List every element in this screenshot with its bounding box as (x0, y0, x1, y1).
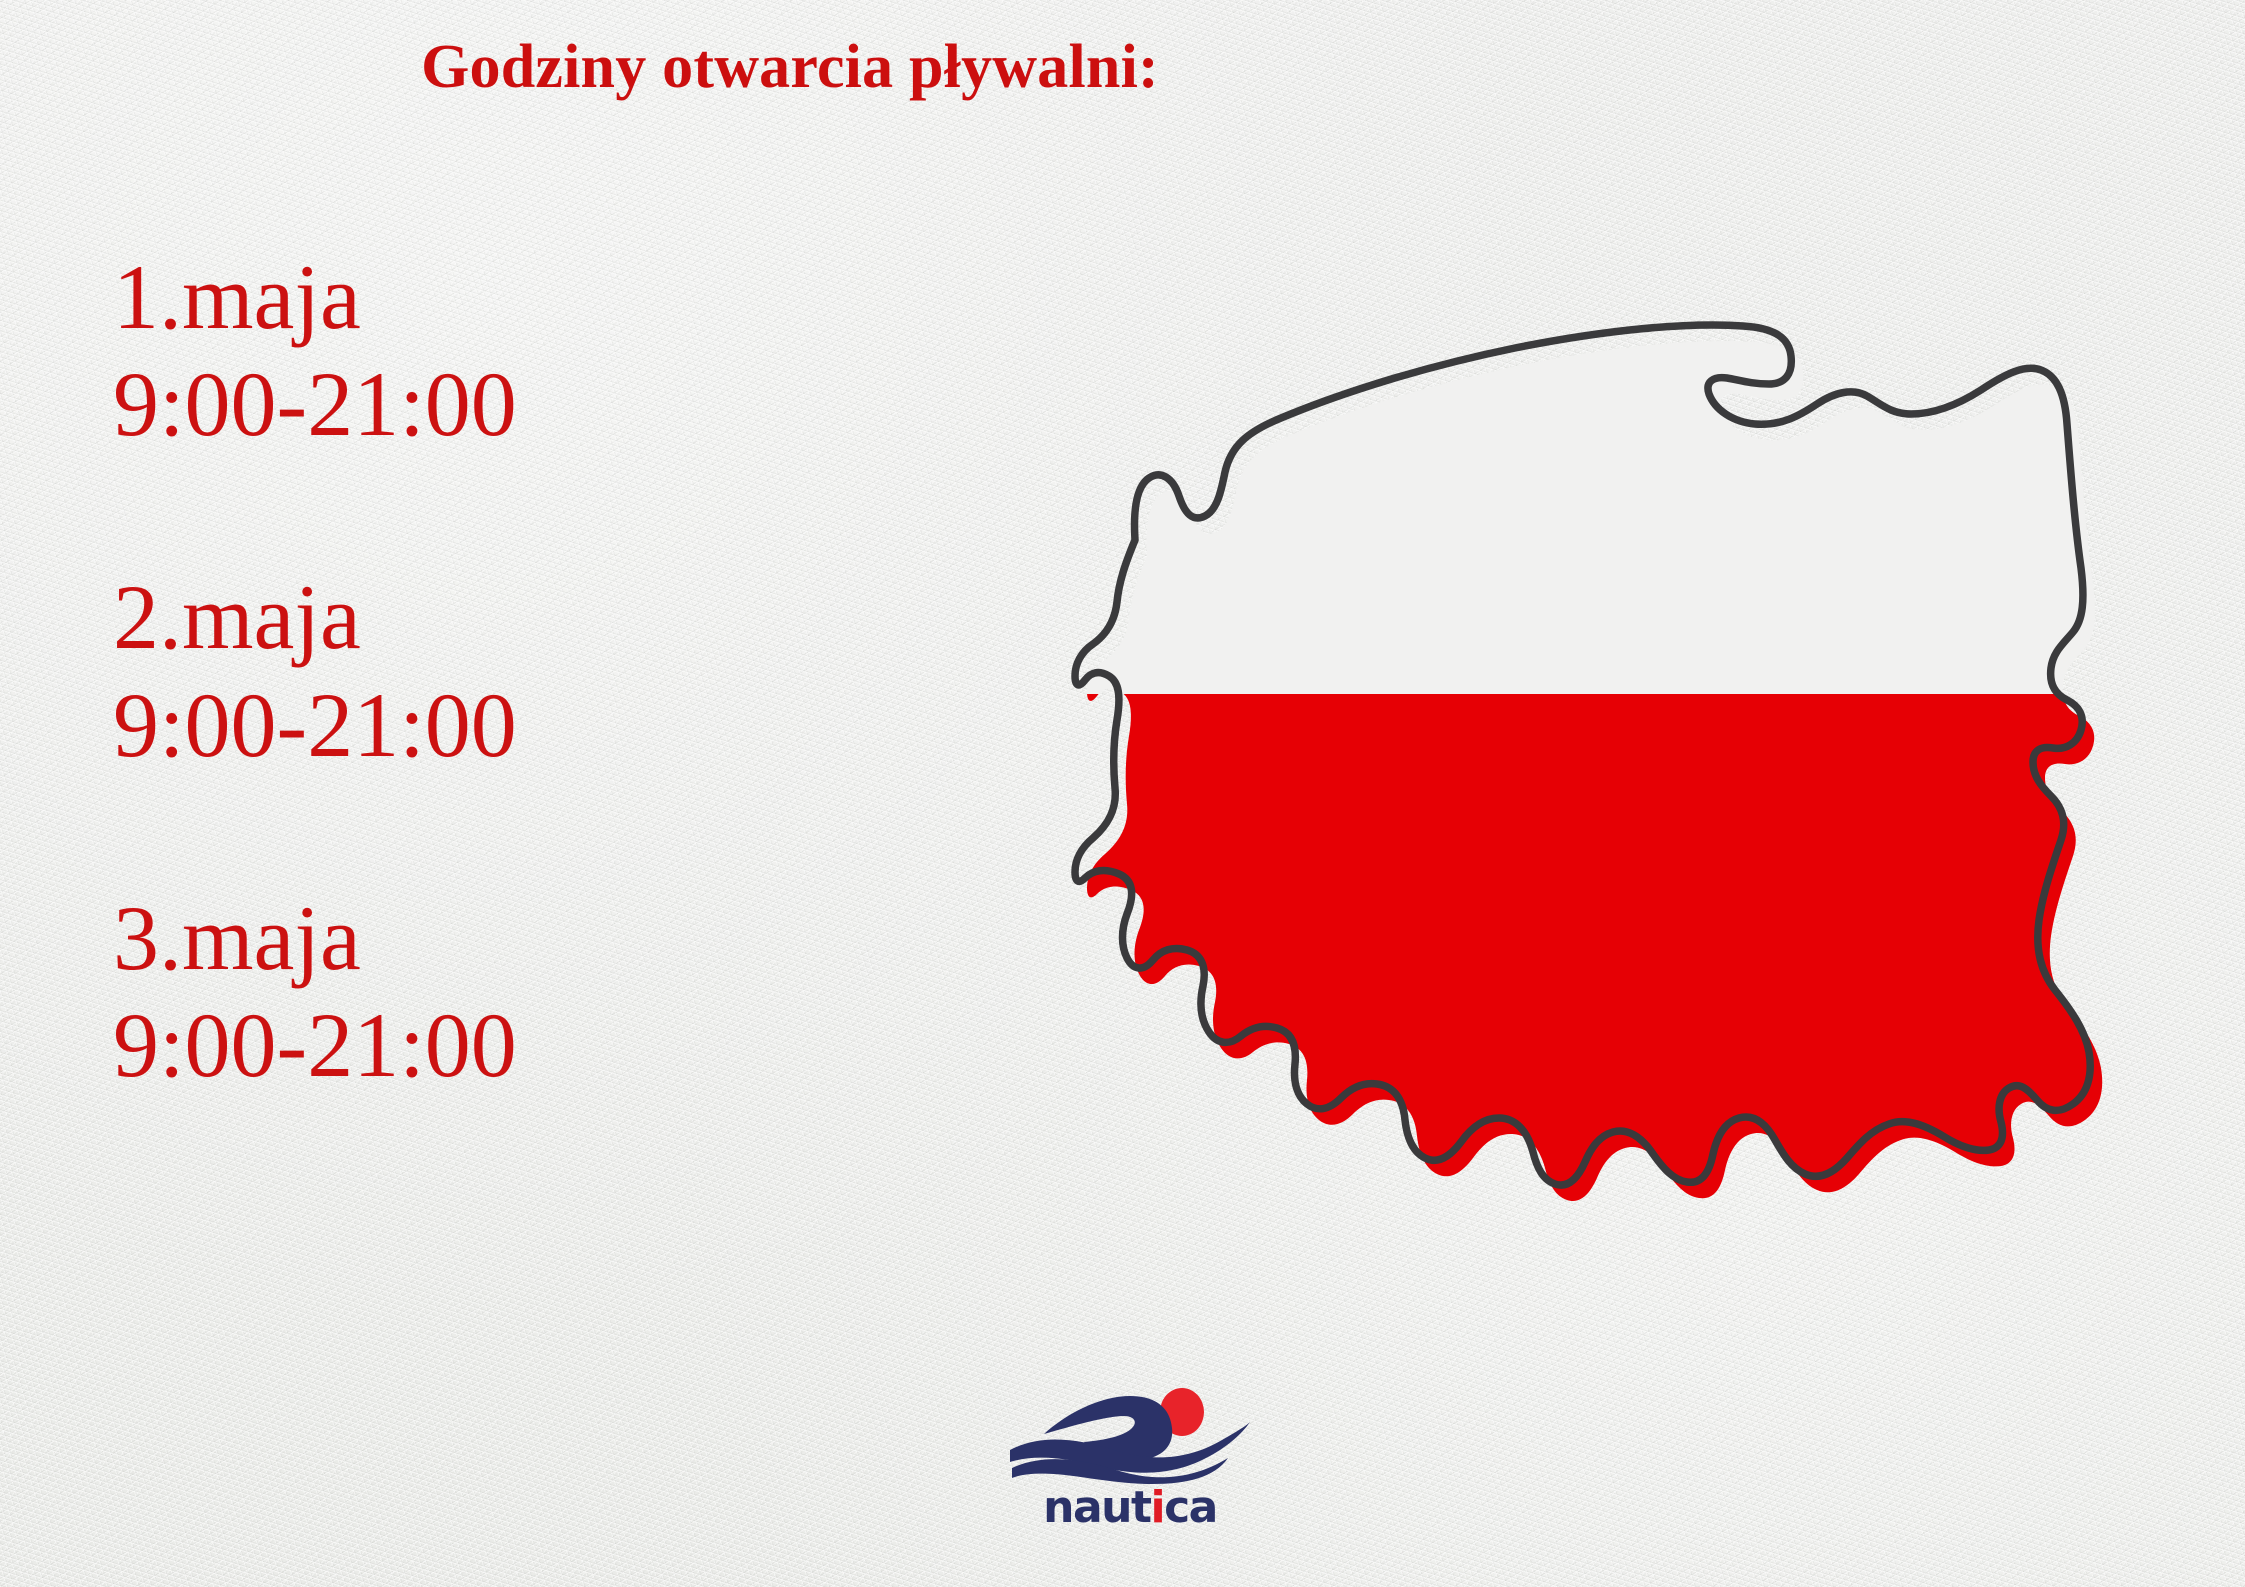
poland-map-graphic (1075, 300, 2205, 1260)
nautica-logo: nautica (1000, 1388, 1260, 1553)
swimmer-logo-icon (1010, 1388, 1250, 1484)
schedule-hours-value: 9:00-21:00 (113, 994, 933, 1097)
logo-wordmark: nautica (1000, 1486, 1260, 1530)
schedule-day-label: 3.maja (113, 889, 933, 988)
list-item: 3.maja 9:00-21:00 (113, 889, 933, 1097)
logo-wordmark-prefix: naut (1043, 1482, 1150, 1533)
page-title: Godziny otwarcia pływalni: (0, 36, 1580, 98)
opening-hours-list: 1.maja 9:00-21:00 2.maja 9:00-21:00 3.ma… (113, 248, 933, 1097)
logo-wordmark-accent-letter: i (1151, 1482, 1165, 1533)
schedule-day-label: 2.maja (113, 568, 933, 667)
list-item: 1.maja 9:00-21:00 (113, 248, 933, 456)
schedule-day-label: 1.maja (113, 248, 933, 347)
flag-white-band (1047, 276, 2245, 696)
logo-wordmark-suffix: ca (1164, 1482, 1217, 1533)
flag-red-band (1047, 694, 2245, 1334)
schedule-hours-value: 9:00-21:00 (113, 353, 933, 456)
poland-map-svg (1075, 300, 2205, 1260)
list-item: 2.maja 9:00-21:00 (113, 568, 933, 776)
poster-canvas: Godziny otwarcia pływalni: 1.maja 9:00-2… (0, 0, 2245, 1587)
schedule-hours-value: 9:00-21:00 (113, 674, 933, 777)
